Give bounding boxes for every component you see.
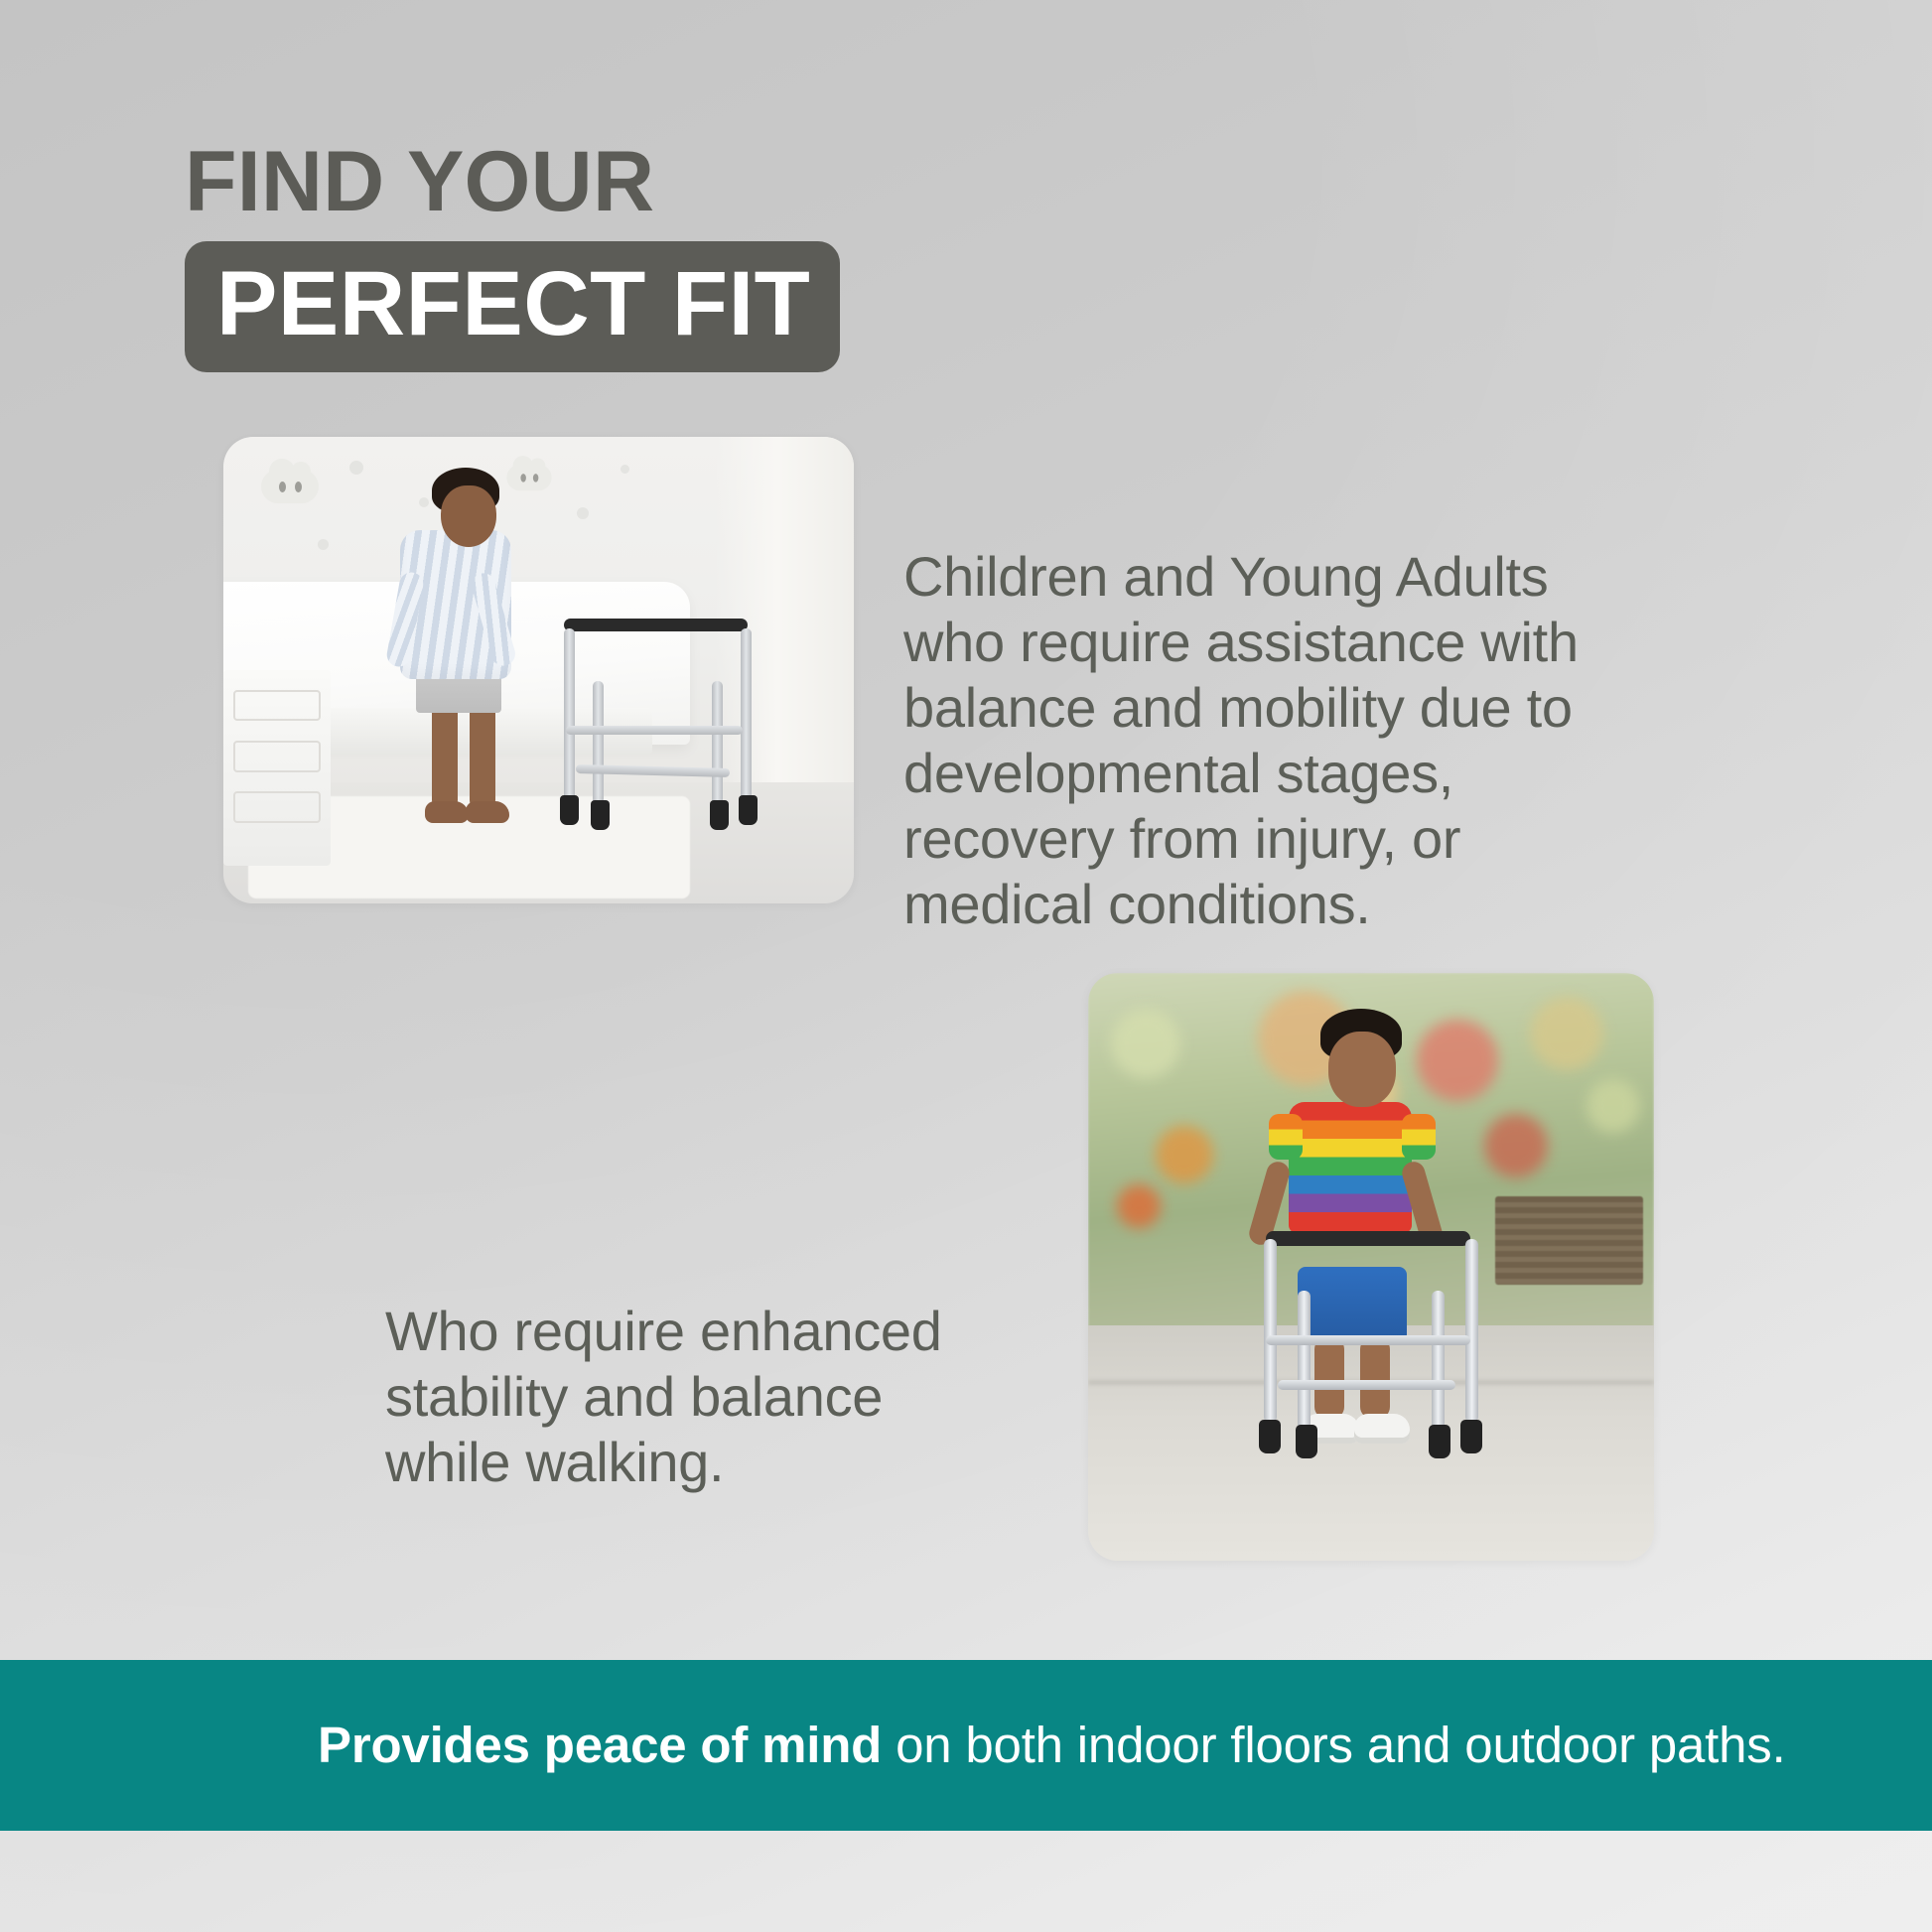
park-bench	[1495, 1196, 1642, 1285]
nightstand	[223, 670, 331, 866]
photo-park-walker	[1088, 973, 1654, 1561]
headline-block: FIND YOUR PERFECT FIT	[185, 139, 840, 372]
walker-frame	[551, 619, 759, 857]
headline-badge-label: PERFECT FIT	[216, 258, 810, 349]
footer-message-rest: on both indoor floors and outdoor paths.	[882, 1717, 1785, 1773]
walker-frame	[1247, 1231, 1490, 1479]
copy-primary: Children and Young Adults who require as…	[903, 544, 1688, 937]
wall-cloud-decal	[261, 470, 319, 503]
footer-message-bold: Provides peace of mind	[318, 1717, 882, 1773]
wall-cloud-decal	[507, 464, 552, 490]
headline-badge: PERFECT FIT	[185, 241, 840, 372]
headline-kicker: FIND YOUR	[185, 139, 840, 224]
footer-message: Provides peace of mind on both indoor fl…	[0, 1715, 1905, 1775]
poster-canvas: FIND YOUR PERFECT FIT	[0, 0, 1932, 1932]
copy-secondary: Who require enhanced stability and balan…	[385, 1299, 1021, 1495]
footer-banner: Provides peace of mind on both indoor fl…	[0, 1660, 1932, 1831]
photo-bedroom-walker	[223, 437, 854, 903]
